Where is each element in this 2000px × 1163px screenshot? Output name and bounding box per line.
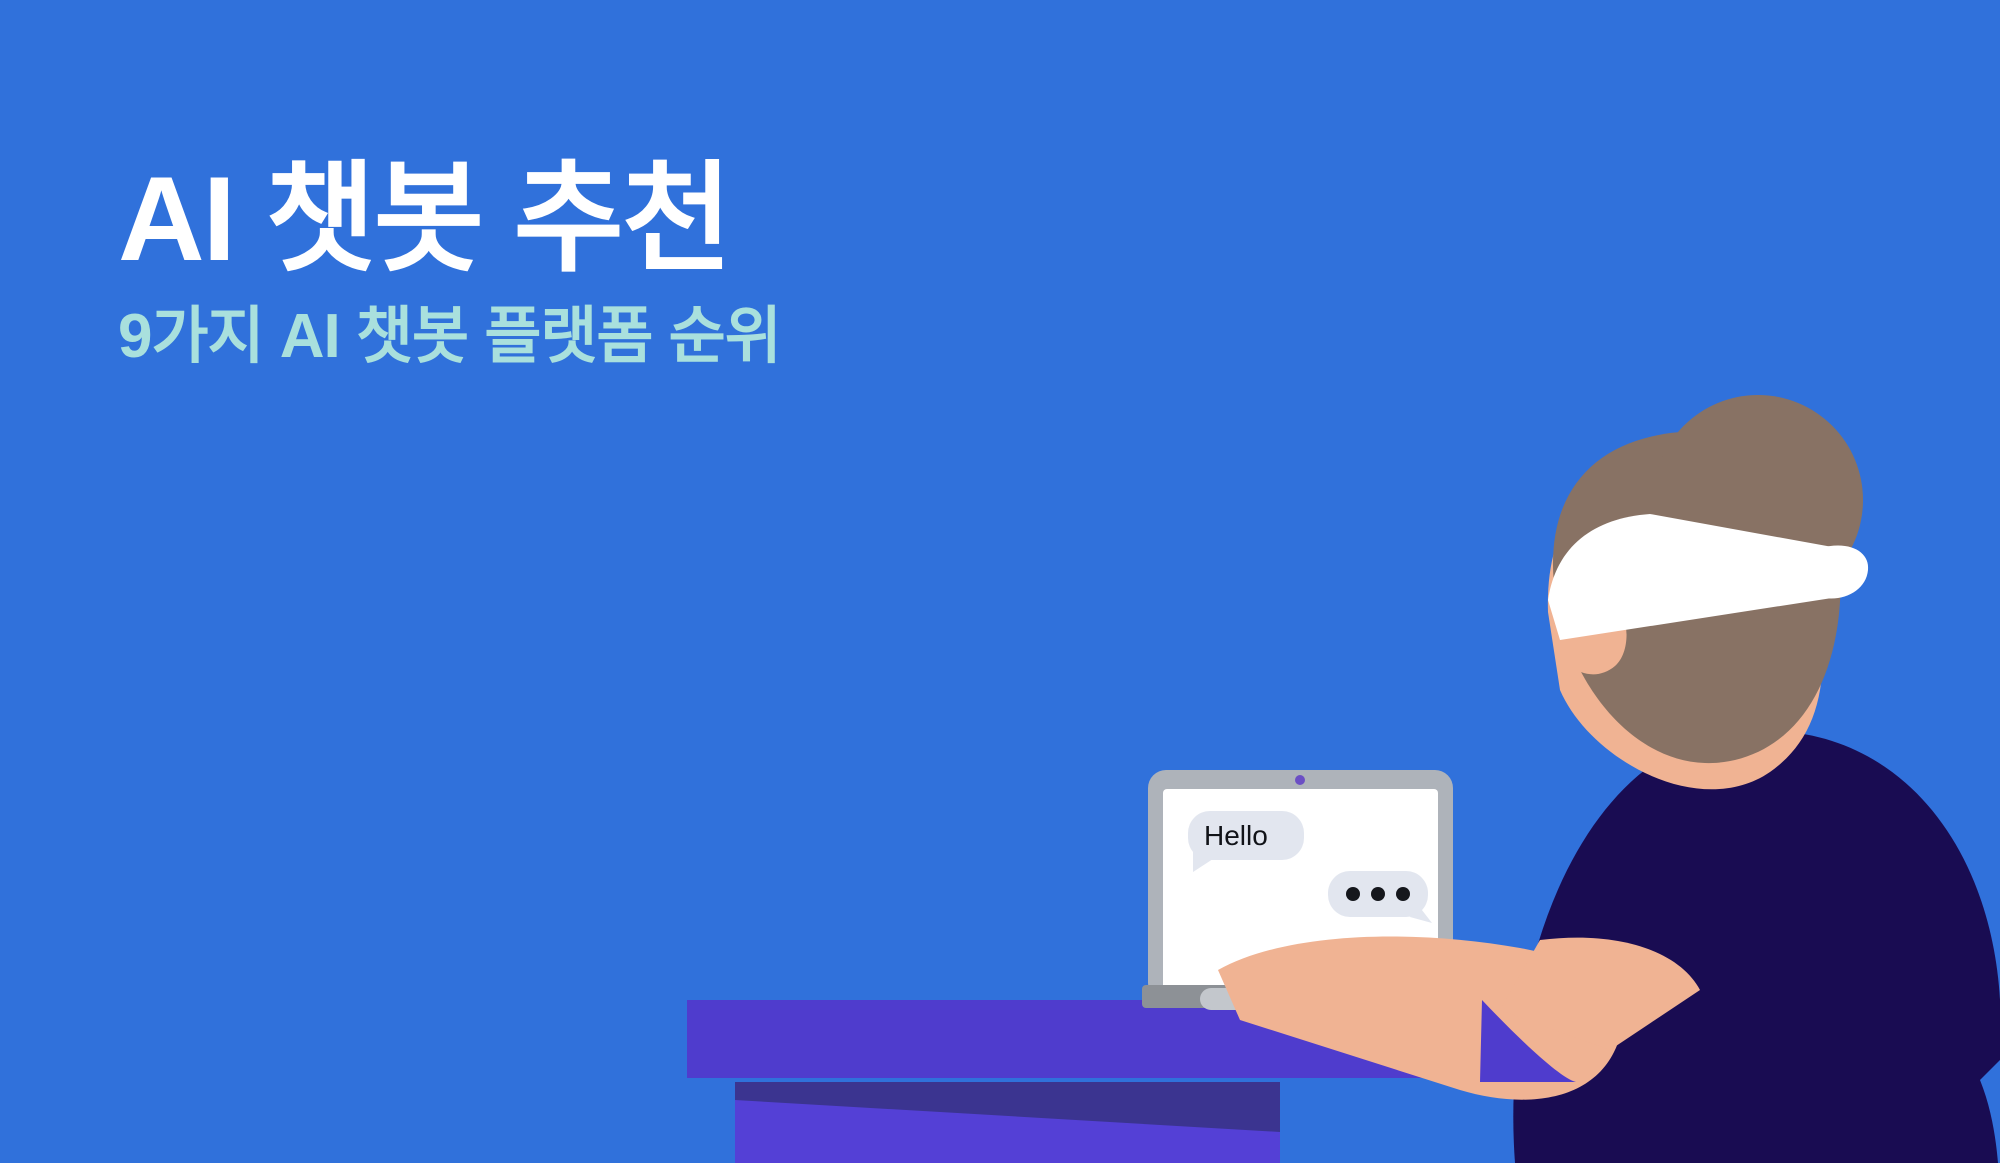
page-subtitle: 9가지 AI 챗봇 플랫폼 순위 xyxy=(118,300,1118,374)
typing-dot-icon xyxy=(1396,887,1410,901)
chat-bubble-bot-typing xyxy=(1328,871,1432,923)
chat-bubble-user-text: Hello xyxy=(1204,820,1268,851)
webcam-dot-icon xyxy=(1295,775,1305,785)
typing-dot-icon xyxy=(1371,887,1385,901)
typing-dot-icon xyxy=(1346,887,1360,901)
page-title: AI 챗봇 추천 xyxy=(118,150,1118,288)
ai-chatbot-banner: Hello xyxy=(0,0,2000,1163)
banner-text-block: AI 챗봇 추천 9가지 AI 챗봇 플랫폼 순위 xyxy=(118,150,1118,374)
